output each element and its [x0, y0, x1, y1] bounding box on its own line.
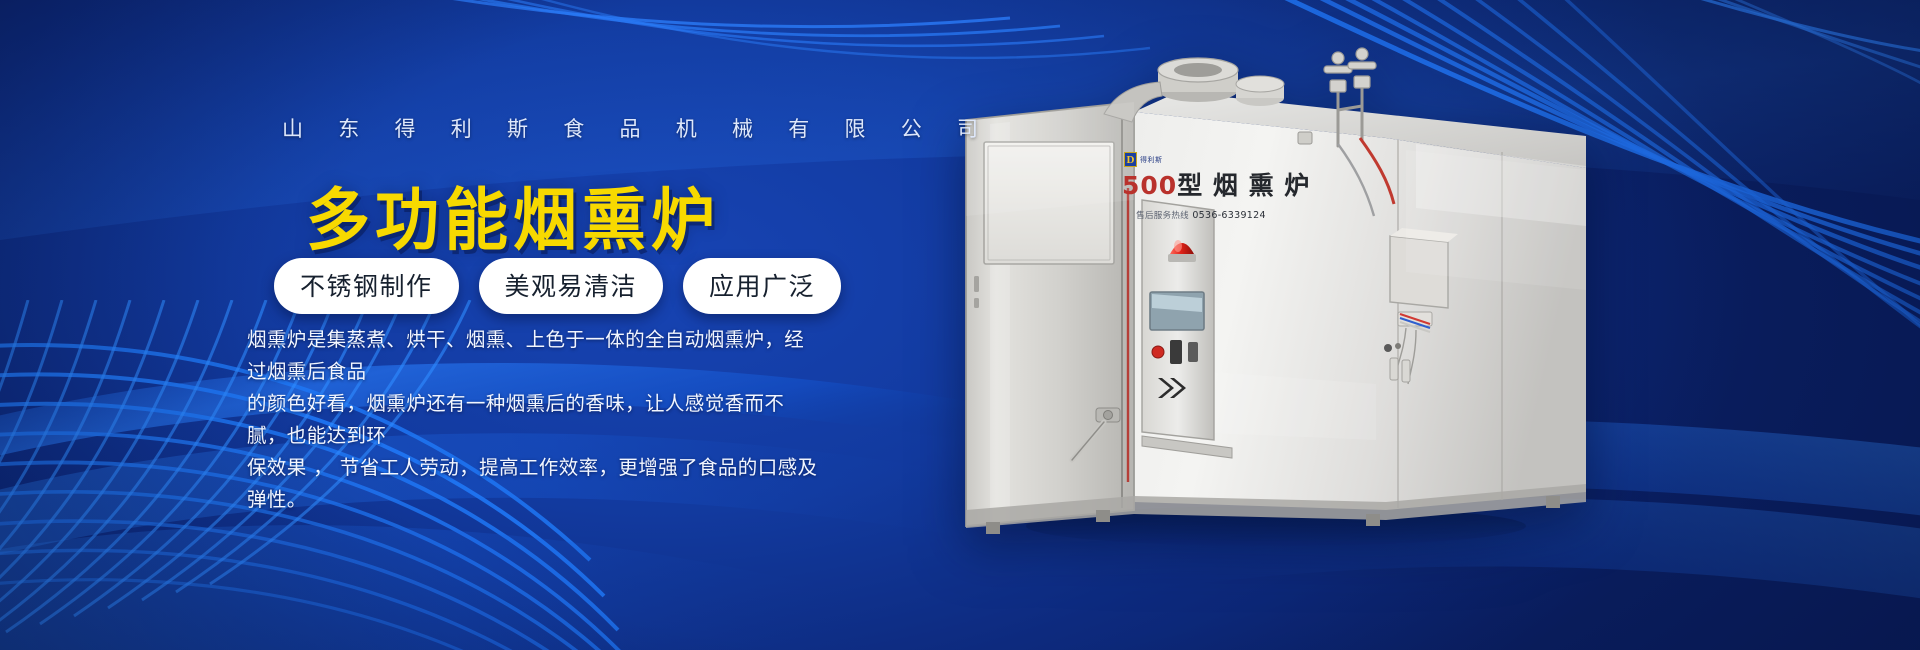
description-line-1: 烟熏炉是集蒸煮、烘干、烟熏、上色于一体的全自动烟熏炉，经过烟熏后食品	[247, 324, 819, 388]
description-line-3: 保效果 ， 节省工人劳动，提高工作效率，更增强了食品的口感及弹性。	[247, 452, 819, 516]
feature-pill-easy-to-clean[interactable]: 美观易清洁	[479, 258, 664, 314]
feature-pill-stainless-steel[interactable]: 不锈钢制作	[274, 258, 459, 314]
description-line-2: 的颜色好看，烟熏炉还有一种烟熏后的香味，让人感觉香而不腻，也能达到环	[247, 388, 819, 452]
feature-pill-list: 不锈钢制作 美观易清洁 应用广泛	[274, 258, 841, 314]
feature-pill-wide-application[interactable]: 应用广泛	[683, 258, 841, 314]
product-description: 烟熏炉是集蒸煮、烘干、烟熏、上色于一体的全自动烟熏炉，经过烟熏后食品 的颜色好看…	[247, 324, 819, 516]
product-banner: D 得利斯 500型 烟 熏 炉 售后服务热线 0536-6339124 山 东…	[0, 0, 1920, 650]
company-name: 山 东 得 利 斯 食 品 机 械 有 限 公 司	[282, 113, 993, 143]
banner-content: 山 东 得 利 斯 食 品 机 械 有 限 公 司 多功能烟熏炉 不锈钢制作 美…	[0, 0, 880, 650]
product-photo-smokehouse-oven: D 得利斯 500型 烟 熏 炉 售后服务热线 0536-6339124	[946, 40, 1586, 550]
page-title: 多功能烟熏炉	[306, 166, 720, 264]
